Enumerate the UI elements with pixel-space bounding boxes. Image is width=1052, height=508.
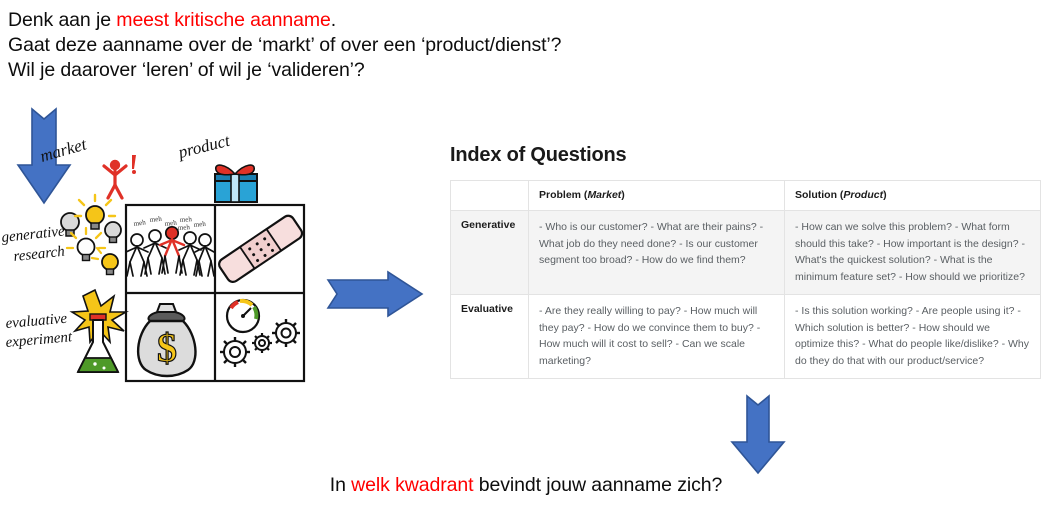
column-header-solution-em: Product bbox=[843, 189, 883, 201]
column-header-problem: Problem (Market) bbox=[529, 181, 785, 211]
quadrant-sketch: market product generative research bbox=[0, 130, 330, 392]
bottom-caption-accent: welk kwadrant bbox=[351, 474, 473, 496]
intro-line-1-pre: Denk aan je bbox=[8, 9, 116, 31]
page-title: Index of Questions bbox=[450, 144, 1040, 167]
cell-evaluative-solution: - Is this solution working? - Are people… bbox=[785, 295, 1041, 379]
bottom-caption: In welk kwadrant bevindt jouw aanname zi… bbox=[0, 473, 1052, 498]
intro-line-1: Denk aan je meest kritische aanname. bbox=[8, 8, 708, 33]
table-header-row: Problem (Market) Solution (Product) bbox=[451, 181, 1041, 211]
crowd-of-people-icon: meh meh meh meh meh meh bbox=[126, 215, 214, 276]
exploding-flask-icon bbox=[72, 290, 126, 372]
gift-box-icon bbox=[215, 165, 257, 202]
cell-generative-problem: - Who is our customer? - What are their … bbox=[529, 211, 785, 295]
sketch-label-evaluative-experiment: evaluative experiment bbox=[5, 311, 74, 351]
svg-text:market: market bbox=[38, 134, 90, 166]
svg-text:meh: meh bbox=[133, 218, 147, 228]
column-header-solution: Solution (Product) bbox=[785, 181, 1041, 211]
column-header-problem-main: Problem ( bbox=[539, 189, 587, 201]
row-label-generative: Generative bbox=[451, 211, 529, 295]
sketch-label-product: product bbox=[175, 130, 233, 162]
questions-table: Problem (Market) Solution (Product) Gene… bbox=[450, 180, 1041, 379]
bottom-caption-pre: In bbox=[330, 474, 351, 496]
bottom-caption-post: bevindt jouw aanname zich? bbox=[473, 474, 722, 496]
table-row: Evaluative - Are they really willing to … bbox=[451, 295, 1041, 379]
lightbulbs-icon bbox=[61, 195, 121, 275]
bandage-plaster-icon bbox=[217, 213, 304, 284]
down-arrow-icon-bottom bbox=[727, 394, 789, 476]
cell-evaluative-problem: - Are they really willing to pay? - How … bbox=[529, 295, 785, 379]
intro-line-3: Wil je daarover ‘leren’ of wil je ‘valid… bbox=[8, 58, 708, 83]
svg-text:meh: meh bbox=[149, 215, 162, 224]
column-header-solution-main: Solution ( bbox=[795, 189, 843, 201]
svg-text:generative: generative bbox=[1, 223, 66, 246]
intro-line-1-accent: meest kritische aanname bbox=[116, 9, 330, 31]
svg-text:evaluative: evaluative bbox=[5, 311, 68, 332]
svg-text:research: research bbox=[13, 244, 66, 265]
column-header-problem-em: Market bbox=[587, 189, 621, 201]
gauge-and-gears-icon bbox=[220, 300, 300, 367]
column-header-problem-tail: ) bbox=[621, 189, 625, 201]
index-of-questions-panel: Index of Questions Problem (Market) Solu… bbox=[450, 144, 1040, 379]
svg-text:meh: meh bbox=[193, 220, 206, 229]
svg-text:meh: meh bbox=[178, 223, 191, 232]
svg-text:experiment: experiment bbox=[5, 329, 74, 351]
row-label-evaluative: Evaluative bbox=[451, 295, 529, 379]
stick-figure-icon bbox=[104, 160, 126, 198]
exclamation-mark-icon bbox=[132, 155, 136, 174]
sketch-label-market: market bbox=[38, 134, 90, 166]
intro-text-block: Denk aan je meest kritische aanname. Gaa… bbox=[8, 8, 708, 83]
column-header-solution-tail: ) bbox=[883, 189, 887, 201]
intro-line-1-post: . bbox=[331, 9, 336, 31]
money-bag-icon: $ bbox=[138, 304, 195, 376]
intro-line-2: Gaat deze aanname over de ‘markt’ of ove… bbox=[8, 33, 708, 58]
right-arrow-icon-middle bbox=[326, 270, 426, 318]
cell-generative-solution: - How can we solve this problem? - What … bbox=[785, 211, 1041, 295]
sketch-label-generative-research: generative research bbox=[1, 223, 66, 265]
table-row: Generative - Who is our customer? - What… bbox=[451, 211, 1041, 295]
money-dollar-symbol: $ bbox=[157, 325, 177, 370]
svg-text:product: product bbox=[175, 130, 233, 162]
column-header-corner bbox=[451, 181, 529, 211]
